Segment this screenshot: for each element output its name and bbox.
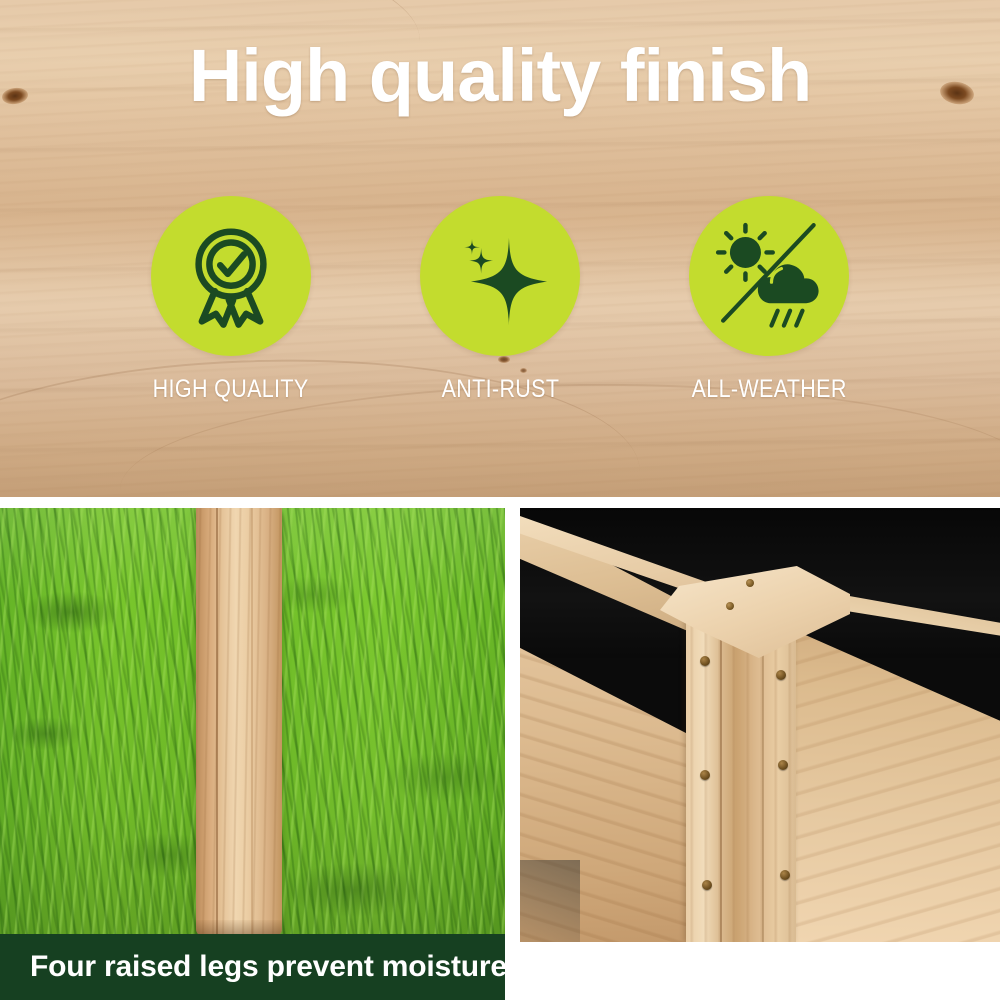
badge-label: ALL-WEATHER (691, 375, 846, 404)
planter-face-right (785, 626, 1000, 942)
feature-badge-anti-rust: ANTI-RUST (418, 196, 583, 404)
badge-circle (151, 196, 311, 356)
page-title: High quality finish (0, 28, 1000, 124)
badge-circle (420, 196, 580, 356)
planter-corner-post (686, 612, 796, 942)
badge-label: ANTI-RUST (441, 375, 559, 404)
award-ribbon-check-icon (177, 222, 285, 330)
leg-edge (216, 508, 218, 936)
sun-rain-cloud-icon (707, 214, 831, 338)
screw (778, 760, 788, 770)
leg-edge (251, 508, 253, 936)
screw (700, 770, 710, 780)
screw (776, 670, 786, 680)
vertical-divider (505, 497, 520, 1000)
ground-shadow (520, 860, 580, 942)
screw (746, 579, 754, 587)
screw (780, 870, 790, 880)
planter-leg (196, 508, 282, 936)
caption-text: Four raised legs prevent moisture (30, 950, 505, 984)
panel-wood-grain (785, 626, 1000, 942)
feature-badge-row: HIGH QUALITY ANTI-RUST (0, 196, 1000, 404)
sparkle-shine-icon (444, 220, 556, 332)
post-edge (762, 612, 764, 942)
hero-wood-panel: High quality finish HIGH (0, 0, 1000, 497)
badge-circle (689, 196, 849, 356)
product-feature-image: High quality finish HIGH (0, 0, 1000, 1000)
horizontal-divider (0, 497, 1000, 508)
planter-box (520, 508, 1000, 942)
raised-leg-on-grass-photo: Four raised legs prevent moisture (0, 508, 505, 1000)
leg-wood-grain (196, 508, 282, 936)
caption-bar-left: Four raised legs prevent moisture (0, 934, 505, 1000)
planter-corner-photo: Safe rounded corners (520, 508, 1000, 1000)
feature-badge-all-weather: ALL-WEATHER (687, 196, 852, 404)
screw (726, 602, 734, 610)
post-edge (720, 612, 722, 942)
screw (700, 656, 710, 666)
feature-badge-high-quality: HIGH QUALITY (149, 196, 314, 404)
screw (702, 880, 712, 890)
badge-label: HIGH QUALITY (153, 375, 309, 404)
